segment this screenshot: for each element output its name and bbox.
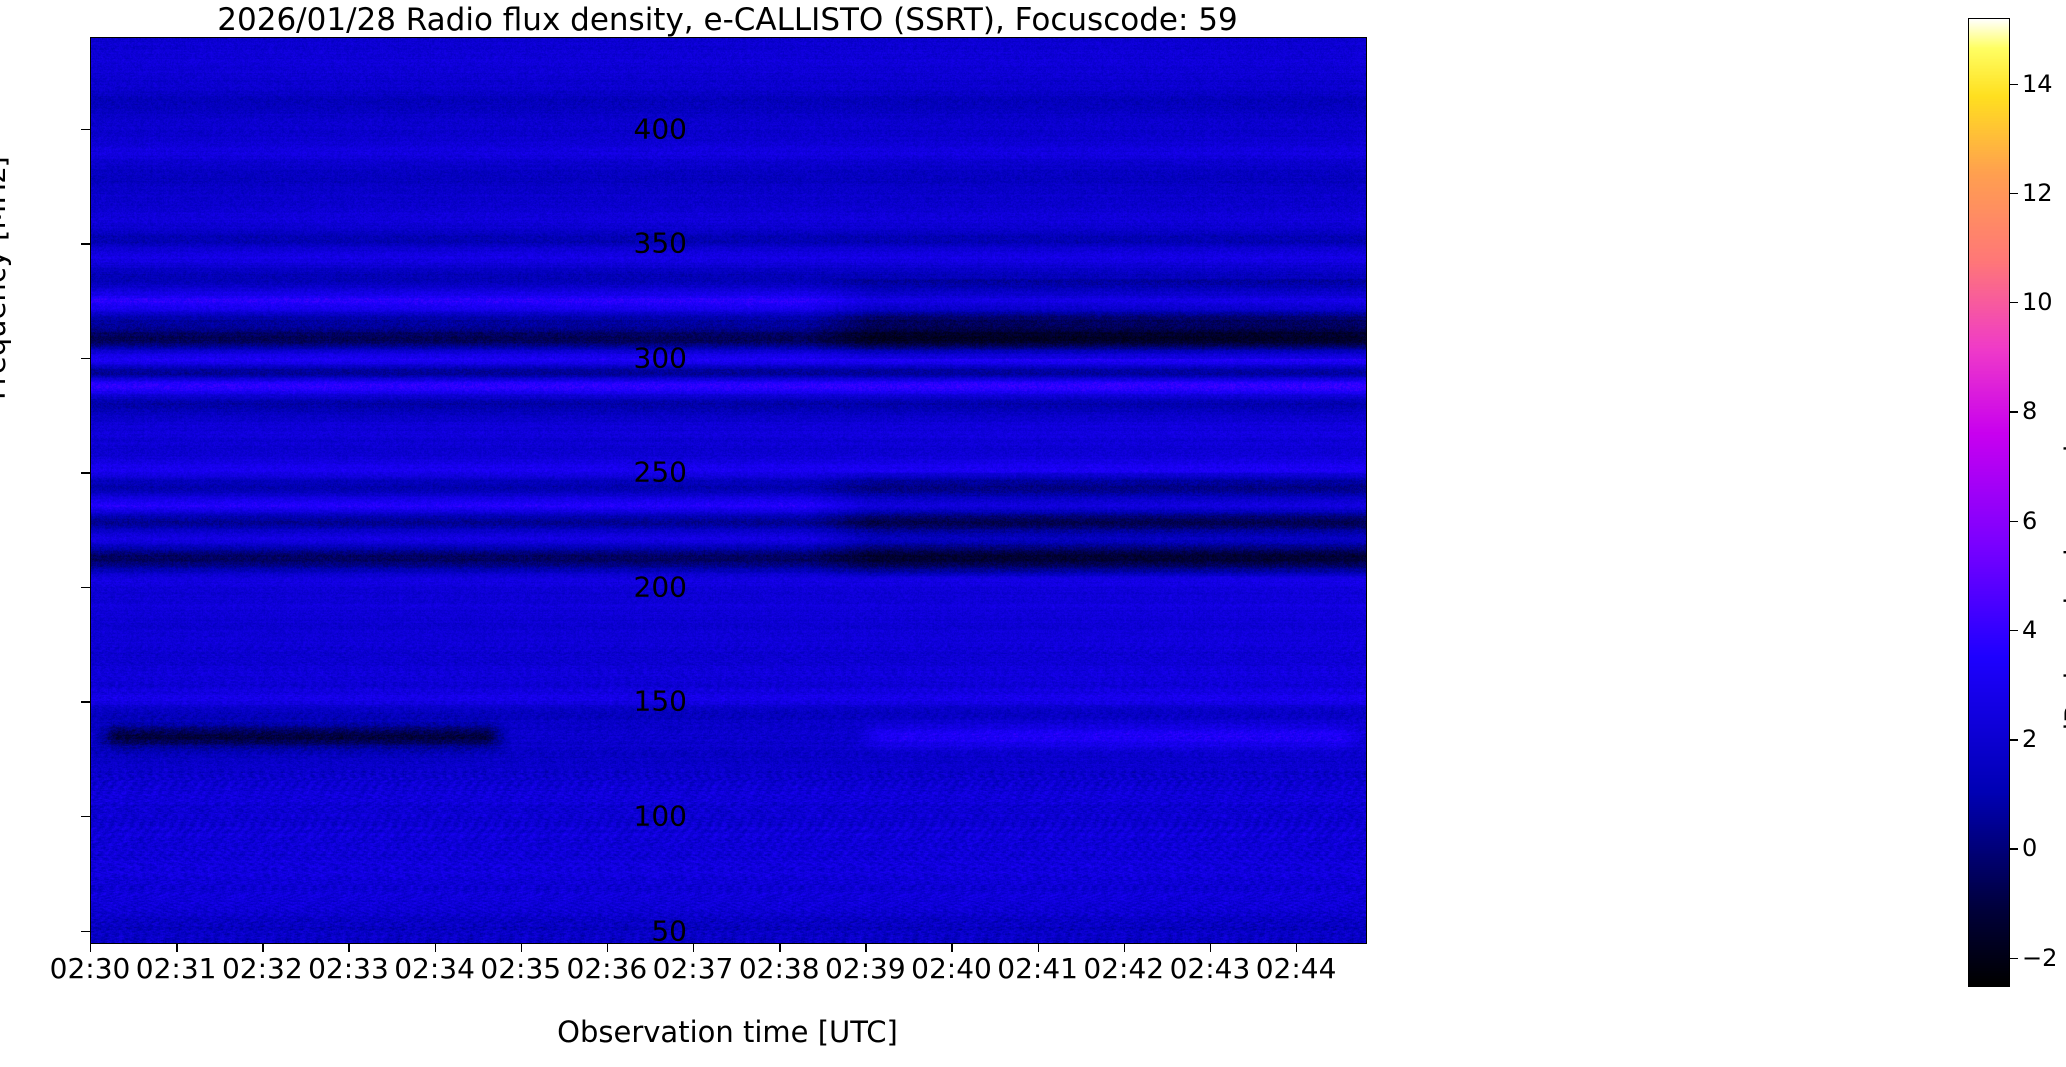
x-tick-label: 02:32 xyxy=(222,952,303,985)
x-tick-mark xyxy=(521,943,522,952)
colorbar-tick-mark xyxy=(2010,630,2018,631)
y-tick-label: 400 xyxy=(634,112,687,145)
x-tick-label: 02:38 xyxy=(739,952,820,985)
x-tick-label: 02:42 xyxy=(1083,952,1164,985)
x-tick-label: 02:41 xyxy=(997,952,1078,985)
colorbar-tick-mark xyxy=(2010,411,2018,412)
colorbar-tick-label: 14 xyxy=(2022,70,2053,98)
x-tick-label: 02:40 xyxy=(911,952,992,985)
x-axis-label: Observation time [UTC] xyxy=(90,1015,1365,1049)
y-tick-mark xyxy=(81,243,90,244)
colorbar-tick-mark xyxy=(2010,739,2018,740)
y-tick-label: 150 xyxy=(634,685,687,718)
x-tick-mark xyxy=(435,943,436,952)
y-tick-mark xyxy=(81,816,90,817)
x-tick-label: 02:43 xyxy=(1170,952,1251,985)
colorbar-tick-label: 12 xyxy=(2022,179,2053,207)
colorbar-label: dB above background xyxy=(2060,445,2066,740)
y-tick-mark xyxy=(81,358,90,359)
x-tick-mark xyxy=(176,943,177,952)
x-tick-label: 02:30 xyxy=(50,952,131,985)
x-tick-label: 02:35 xyxy=(480,952,561,985)
x-tick-label: 02:36 xyxy=(567,952,648,985)
colorbar-tick-label: −2 xyxy=(2022,944,2057,972)
x-tick-label: 02:31 xyxy=(136,952,217,985)
colorbar-tick-label: 6 xyxy=(2022,507,2037,535)
x-tick-label: 02:39 xyxy=(825,952,906,985)
colorbar-tick-label: 0 xyxy=(2022,834,2037,862)
y-tick-mark xyxy=(81,129,90,130)
colorbar-tick-mark xyxy=(2010,958,2018,959)
x-tick-mark xyxy=(90,943,91,952)
colorbar-axes[interactable] xyxy=(1968,18,2010,987)
chart-title: 2026/01/28 Radio flux density, e-CALLIST… xyxy=(90,2,1365,38)
colorbar-tick-mark xyxy=(2010,302,2018,303)
x-tick-mark xyxy=(779,943,780,952)
colorbar-tick-label: 8 xyxy=(2022,397,2037,425)
figure-canvas: 2026/01/28 Radio flux density, e-CALLIST… xyxy=(0,0,2066,1067)
x-tick-mark xyxy=(1296,943,1297,952)
y-tick-label: 250 xyxy=(634,456,687,489)
spectrogram-image xyxy=(91,38,1366,943)
y-tick-mark xyxy=(81,472,90,473)
y-tick-label: 300 xyxy=(634,341,687,374)
x-tick-mark xyxy=(951,943,952,952)
y-tick-label: 50 xyxy=(651,914,687,947)
y-tick-mark xyxy=(81,587,90,588)
colorbar-tick-mark xyxy=(2010,848,2018,849)
y-tick-mark xyxy=(81,931,90,932)
x-tick-label: 02:33 xyxy=(308,952,389,985)
x-tick-mark xyxy=(262,943,263,952)
x-tick-label: 02:37 xyxy=(653,952,734,985)
colorbar-gradient xyxy=(1969,19,2009,986)
x-tick-label: 02:44 xyxy=(1256,952,1337,985)
y-tick-label: 350 xyxy=(634,227,687,260)
colorbar-tick-mark xyxy=(2010,84,2018,85)
x-tick-mark xyxy=(348,943,349,952)
x-tick-mark xyxy=(1038,943,1039,952)
x-tick-mark xyxy=(693,943,694,952)
y-axis-label: Frequency [MHz] xyxy=(0,156,12,400)
colorbar-tick-mark xyxy=(2010,521,2018,522)
colorbar-tick-label: 4 xyxy=(2022,616,2037,644)
colorbar-tick-label: 2 xyxy=(2022,725,2037,753)
x-tick-mark xyxy=(1124,943,1125,952)
colorbar-tick-label: 10 xyxy=(2022,288,2053,316)
x-tick-mark xyxy=(1210,943,1211,952)
y-tick-mark xyxy=(81,701,90,702)
y-tick-label: 100 xyxy=(634,799,687,832)
x-tick-label: 02:34 xyxy=(394,952,475,985)
colorbar-tick-mark xyxy=(2010,193,2018,194)
spectrogram-axes[interactable] xyxy=(90,37,1367,944)
x-tick-mark xyxy=(607,943,608,952)
x-tick-mark xyxy=(865,943,866,952)
y-tick-label: 200 xyxy=(634,570,687,603)
